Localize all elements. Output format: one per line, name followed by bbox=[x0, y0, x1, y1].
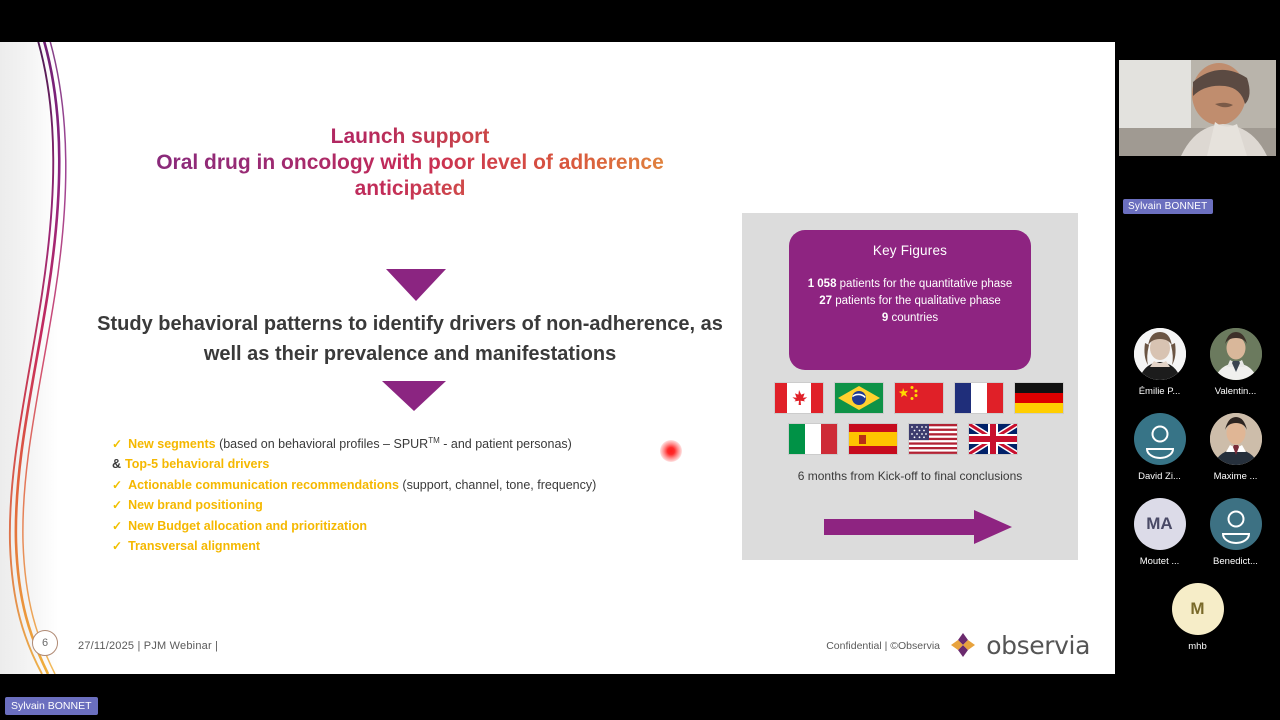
active-speaker-video-tile[interactable] bbox=[1119, 60, 1276, 156]
observia-logo: observia bbox=[948, 630, 1090, 660]
slide-footer: 6 27/11/2025 | PJM Webinar | Confidentia… bbox=[0, 616, 1115, 674]
flag-spain-icon bbox=[849, 424, 897, 454]
avatar-initials: MA bbox=[1146, 514, 1172, 534]
stat-1-value: 1 058 bbox=[808, 278, 837, 290]
list-item-rest: (based on behavioral profiles – SPUR bbox=[216, 437, 429, 451]
list-item: ✓New segments (based on behavioral profi… bbox=[112, 434, 712, 454]
participant-valentin[interactable]: Valentin... bbox=[1209, 328, 1263, 397]
check-icon: ✓ bbox=[112, 498, 122, 512]
trademark-mark: TM bbox=[428, 436, 440, 445]
stat-line-1: 1 058 patients for the quantitative phas… bbox=[797, 276, 1023, 293]
avatar[interactable]: MA bbox=[1134, 498, 1186, 550]
list-item: ✓New Budget allocation and prioritizatio… bbox=[112, 516, 712, 536]
participant-mhb[interactable]: M mhb bbox=[1171, 583, 1225, 652]
participant-name: Émilie P... bbox=[1133, 386, 1187, 397]
list-item-highlight: New brand positioning bbox=[128, 498, 263, 512]
speaker-video-frame bbox=[1119, 60, 1276, 156]
participant-name: David Zi... bbox=[1133, 471, 1187, 482]
flag-uk-icon bbox=[969, 424, 1017, 454]
stat-2-text: patients for the qualitative phase bbox=[832, 295, 1001, 307]
participant-name: Valentin... bbox=[1209, 386, 1263, 397]
avatar-row-4: M mhb bbox=[1115, 583, 1280, 652]
check-icon: ✓ bbox=[112, 478, 122, 492]
page-number-badge: 6 bbox=[32, 630, 58, 656]
flags-row-1 bbox=[775, 383, 1063, 413]
list-item: ✓Actionable communication recommendation… bbox=[112, 475, 712, 495]
participant-moutet[interactable]: MA Moutet ... bbox=[1133, 498, 1187, 567]
title-line-1: Launch support bbox=[90, 124, 730, 150]
list-item-rest2: - and patient personas) bbox=[440, 437, 572, 451]
avatar-row-2: David Zi... Maxime ... bbox=[1115, 413, 1280, 482]
flag-usa-icon bbox=[909, 424, 957, 454]
bottom-active-speaker-chip: Sylvain BONNET bbox=[5, 697, 98, 715]
list-item-rest: (support, channel, tone, frequency) bbox=[399, 478, 596, 492]
avatar[interactable] bbox=[1134, 413, 1186, 465]
list-item-highlight: Transversal alignment bbox=[128, 539, 260, 553]
avatar-placeholder-person-icon bbox=[1134, 413, 1186, 465]
title-line-2: Oral drug in oncology with poor level of… bbox=[90, 150, 730, 176]
flag-china-icon bbox=[895, 383, 943, 413]
stat-line-3: 9 countries bbox=[797, 310, 1023, 327]
key-figures-caption: 6 months from Kick-off to final conclusi… bbox=[770, 468, 1050, 485]
flags-row-2 bbox=[789, 424, 1017, 454]
observia-diamond-icon bbox=[948, 630, 978, 660]
participant-benedict[interactable]: Benedict... bbox=[1209, 498, 1263, 567]
stat-line-2: 27 patients for the qualitative phase bbox=[797, 293, 1023, 310]
avatar-photo-woman bbox=[1134, 328, 1186, 380]
avatar[interactable] bbox=[1210, 328, 1262, 380]
avatar-initials: M bbox=[1190, 599, 1204, 619]
avatar[interactable] bbox=[1134, 328, 1186, 380]
key-figures-stats: 1 058 patients for the quantitative phas… bbox=[789, 276, 1031, 327]
observia-wordmark: observia bbox=[986, 631, 1090, 660]
down-triangle-icon-2 bbox=[382, 381, 446, 411]
flag-canada-icon bbox=[775, 383, 823, 413]
footer-confidential-text: Confidential | ©Observia bbox=[826, 640, 940, 652]
flag-brazil-icon bbox=[835, 383, 883, 413]
participant-name: Moutet ... bbox=[1133, 556, 1187, 567]
check-icon: ✓ bbox=[112, 437, 122, 451]
list-item: ✓New brand positioning bbox=[112, 495, 712, 515]
deliverables-list: ✓New segments (based on behavioral profi… bbox=[112, 434, 712, 556]
avatar[interactable] bbox=[1210, 498, 1262, 550]
check-icon: ✓ bbox=[112, 539, 122, 553]
flag-italy-icon bbox=[789, 424, 837, 454]
avatar-photo-man bbox=[1210, 328, 1262, 380]
flag-france-icon bbox=[955, 383, 1003, 413]
ampersand-prefix: & bbox=[112, 457, 121, 471]
participant-name: Maxime ... bbox=[1209, 471, 1263, 482]
avatar-placeholder-person-icon-2 bbox=[1210, 498, 1262, 550]
down-triangle-icon bbox=[386, 269, 446, 301]
list-item: &Top-5 behavioral drivers bbox=[112, 454, 712, 474]
stat-2-value: 27 bbox=[819, 295, 832, 307]
key-figures-panel: Key Figures 1 058 patients for the quant… bbox=[742, 213, 1078, 560]
active-speaker-name-label: Sylvain BONNET bbox=[1123, 199, 1213, 214]
list-item-highlight: Actionable communication recommendations bbox=[128, 478, 399, 492]
slide-title: Launch support Oral drug in oncology wit… bbox=[90, 124, 730, 201]
avatar[interactable] bbox=[1210, 413, 1262, 465]
list-item: ✓Transversal alignment bbox=[112, 536, 712, 556]
screen-share-region[interactable]: Launch support Oral drug in oncology wit… bbox=[0, 42, 1115, 674]
slide-headline: Study behavioral patterns to identify dr… bbox=[80, 310, 740, 369]
footer-meta-text: 27/11/2025 | PJM Webinar | bbox=[78, 640, 218, 652]
key-figures-box: Key Figures 1 058 patients for the quant… bbox=[789, 230, 1031, 370]
participant-david[interactable]: David Zi... bbox=[1133, 413, 1187, 482]
laser-pointer-dot bbox=[660, 440, 682, 462]
participant-name: mhb bbox=[1171, 641, 1225, 652]
key-figures-title: Key Figures bbox=[789, 243, 1031, 258]
right-arrow-icon bbox=[824, 510, 1012, 544]
presentation-slide[interactable]: Launch support Oral drug in oncology wit… bbox=[0, 42, 1115, 674]
avatar[interactable]: M bbox=[1172, 583, 1224, 635]
stat-3-text: countries bbox=[888, 312, 938, 324]
participant-emilie[interactable]: Émilie P... bbox=[1133, 328, 1187, 397]
participants-rail[interactable]: Sylvain BONNET Émilie P... bbox=[1115, 0, 1280, 720]
list-item-highlight: New Budget allocation and prioritization bbox=[128, 519, 367, 533]
stat-1-text: patients for the quantitative phase bbox=[836, 278, 1012, 290]
flag-germany-icon bbox=[1015, 383, 1063, 413]
check-icon: ✓ bbox=[112, 519, 122, 533]
title-line-3: anticipated bbox=[90, 176, 730, 202]
avatar-row-3: MA Moutet ... Benedict... bbox=[1115, 498, 1280, 567]
avatar-photo-man2 bbox=[1210, 413, 1262, 465]
list-item-highlight: Top-5 behavioral drivers bbox=[125, 457, 269, 471]
participant-avatar-grid: Émilie P... Valentin... bbox=[1115, 328, 1280, 668]
participant-name: Benedict... bbox=[1209, 556, 1263, 567]
list-item-highlight: New segments bbox=[128, 437, 216, 451]
participant-maxime[interactable]: Maxime ... bbox=[1209, 413, 1263, 482]
avatar-row-1: Émilie P... Valentin... bbox=[1115, 328, 1280, 397]
